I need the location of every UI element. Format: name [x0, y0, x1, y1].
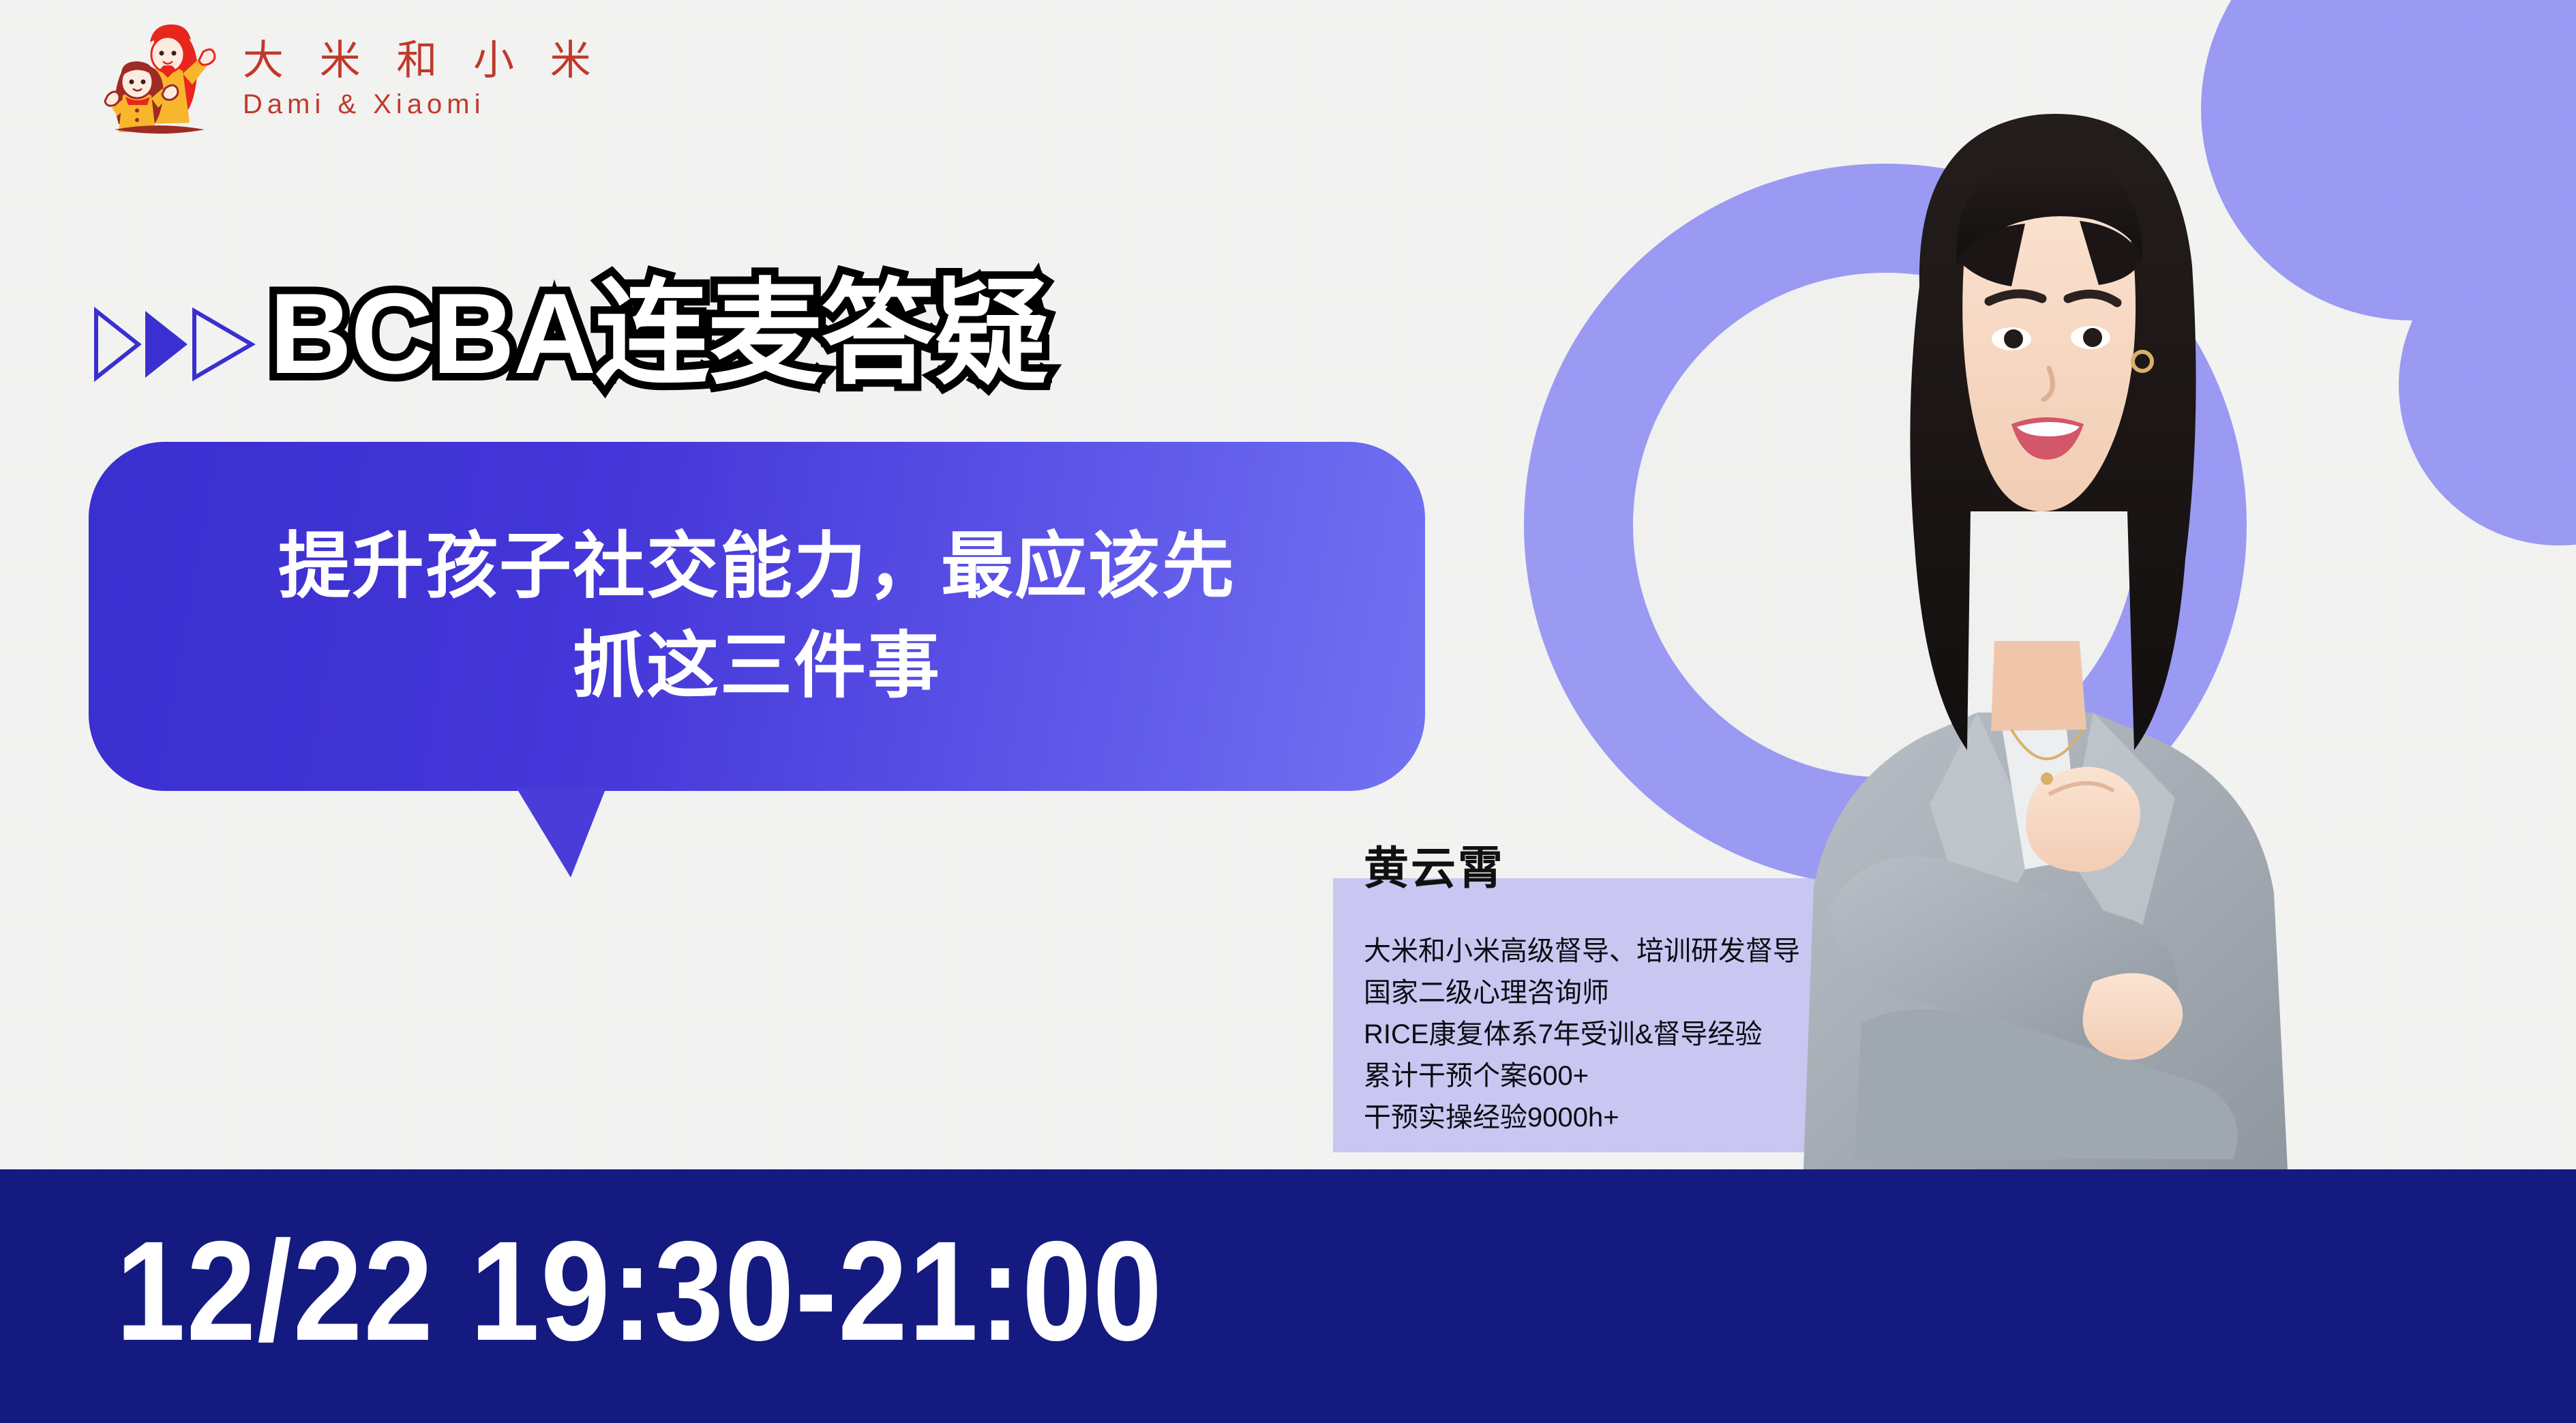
brand-name-cn: 大 米 和 小 米 [243, 40, 603, 81]
two-girls-mascot-icon [102, 19, 225, 138]
speaker-name: 黄云霄 [1364, 845, 1505, 890]
credential-item: RICE康复体系7年受训&督导经验 [1364, 1016, 1800, 1053]
brand-logo: 大 米 和 小 米 Dami & Xiaomi [102, 19, 603, 138]
credentials-list: 大米和小米高级督导、培训研发督导 国家二级心理咨询师 RICE康复体系7年受训&… [1364, 933, 1800, 1136]
brand-wordmark: 大 米 和 小 米 Dami & Xiaomi [243, 40, 603, 118]
credential-item: 干预实操经验9000h+ [1364, 1099, 1800, 1136]
credential-item: 大米和小米高级督导、培训研发督导 [1364, 933, 1800, 970]
bubble-line-1: 提升孩子社交能力，最应该先 [278, 517, 1235, 616]
brand-name-en: Dami & Xiaomi [243, 91, 603, 118]
schedule-datetime: 12/22 19:30-21:00 [116, 1220, 1163, 1362]
page-title: BCBA连麦答疑 [269, 276, 1047, 391]
credential-item: 累计干预个案600+ [1364, 1058, 1800, 1094]
triple-chevron-right-icon [85, 300, 263, 389]
promo-banner: 大 米 和 小 米 Dami & Xiaomi BCBA连麦答疑 提升孩子社交能… [0, 0, 2576, 1423]
speech-bubble-tail-icon [516, 788, 612, 883]
speech-bubble: 提升孩子社交能力，最应该先 抓这三件事 [89, 442, 1425, 791]
schedule-bar: 12/22 19:30-21:00 [0, 1169, 2576, 1423]
credential-item: 国家二级心理咨询师 [1364, 974, 1800, 1011]
bubble-line-2: 抓这三件事 [573, 616, 941, 716]
